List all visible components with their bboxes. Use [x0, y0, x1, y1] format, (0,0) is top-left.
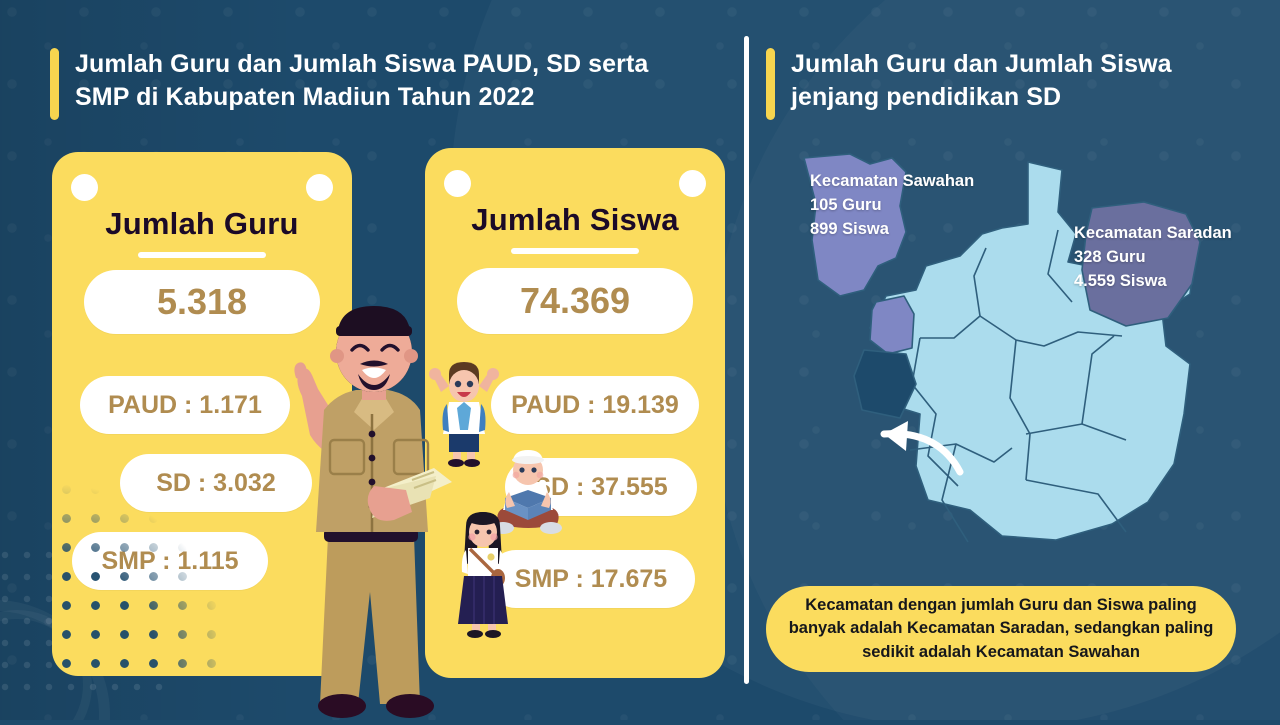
right-panel-header: Jumlah Guru dan Jumlah Siswa jenjang pen… [766, 48, 1236, 120]
card-guru-dot-pattern [52, 446, 267, 676]
accent-bar-icon [50, 48, 59, 120]
card-guru-level-paud: PAUD : 1.171 [80, 376, 290, 434]
map-caption-box: Kecamatan dengan jumlah Guru dan Siswa p… [766, 586, 1236, 672]
map-caption-text: Kecamatan dengan jumlah Guru dan Siswa p… [788, 594, 1214, 664]
page-title-left: Jumlah Guru dan Jumlah Siswa PAUD, SD se… [75, 48, 648, 114]
map-label-saradan: Kecamatan Saradan 328 Guru 4.559 Siswa [1074, 222, 1232, 294]
card-siswa-total-value: 74.369 [457, 268, 693, 334]
card-guru-title: Jumlah Guru [52, 206, 352, 242]
panel-divider [744, 36, 749, 684]
card-guru-underline [138, 252, 266, 258]
card-pin-left-icon [71, 174, 98, 201]
card-siswa-underline [511, 248, 639, 254]
card-siswa-level-smp: SMP : 17.675 [487, 550, 695, 608]
card-pin-right-icon [306, 174, 333, 201]
card-siswa-title: Jumlah Siswa [425, 202, 725, 238]
page-title-right: Jumlah Guru dan Jumlah Siswa jenjang pen… [791, 48, 1172, 114]
card-pin-left-icon [444, 170, 471, 197]
card-siswa-level-paud: PAUD : 19.139 [491, 376, 699, 434]
accent-bar-icon [766, 48, 775, 120]
left-panel-header: Jumlah Guru dan Jumlah Siswa PAUD, SD se… [50, 48, 710, 120]
card-pin-right-icon [679, 170, 706, 197]
map-label-sawahan: Kecamatan Sawahan 105 Guru 899 Siswa [810, 170, 974, 242]
student-girl-illustration [448, 508, 518, 640]
